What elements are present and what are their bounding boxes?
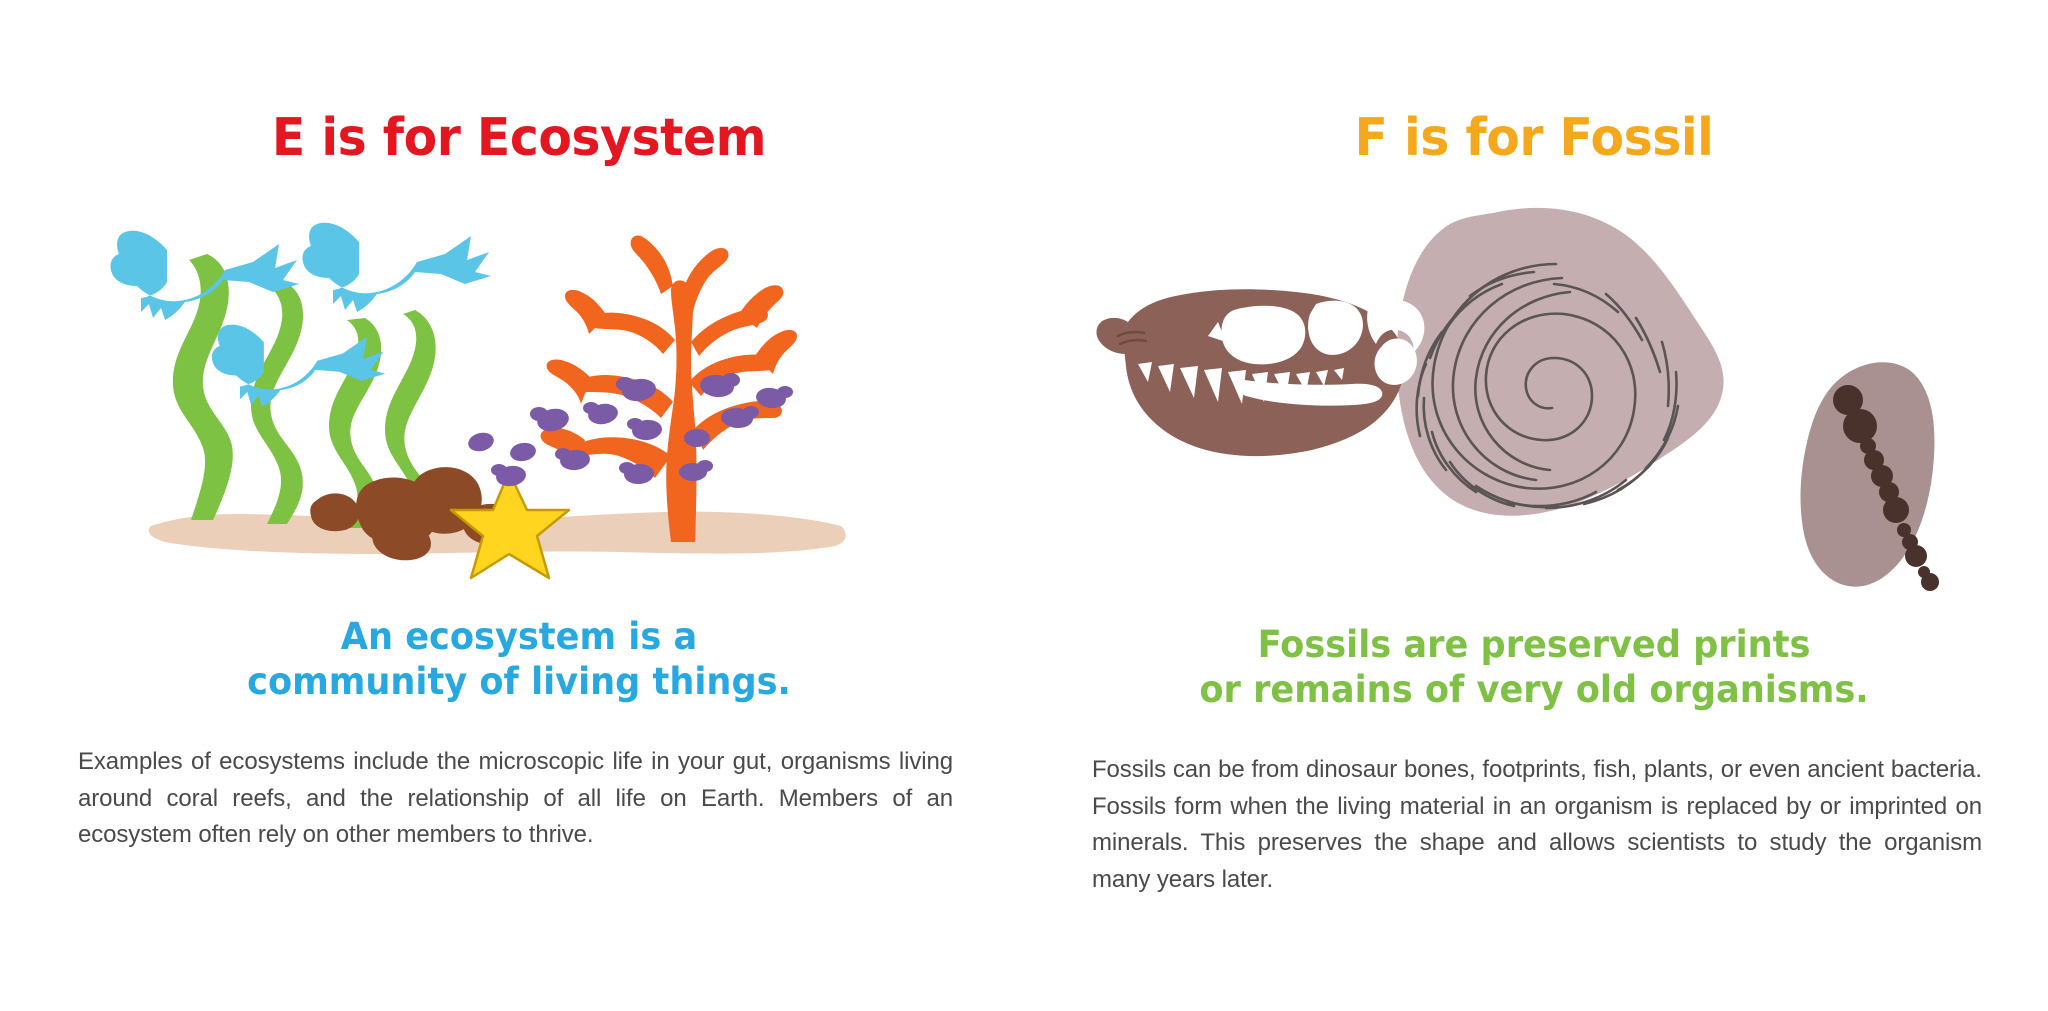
illustration-coral-reef-ecosystem <box>78 190 960 590</box>
illustration-fossil-specimens <box>1092 194 1976 604</box>
page-title-ecosystem: E is for Ecosystem <box>104 0 933 164</box>
page-spread: E is for Ecosystem <box>0 0 2048 1011</box>
fish-2 <box>302 223 491 312</box>
panel-fossil: F is for Fossil <box>1024 0 2048 1011</box>
dinosaur-skull-fossil <box>1097 289 1425 456</box>
panel-ecosystem: E is for Ecosystem <box>0 0 1024 1011</box>
page-title-fossil: F is for Fossil <box>1119 0 1950 164</box>
body-fossil-wrap: Fossils can be from dinosaur bones, foot… <box>1092 752 1976 898</box>
coral-shape <box>541 235 797 542</box>
body-text-ecosystem: Examples of ecosystems include the micro… <box>78 744 953 853</box>
coral-polyps-group <box>466 373 793 488</box>
body-text-fossil: Fossils can be from dinosaur bones, foot… <box>1092 752 1982 898</box>
caption-fossil: Fossils are preserved prints or remains … <box>1114 622 1954 712</box>
caption-fossil-wrap: Fossils are preserved prints or remains … <box>1092 622 1976 712</box>
body-ecosystem-wrap: Examples of ecosystems include the micro… <box>78 744 960 853</box>
caption-ecosystem: An ecosystem is a community of living th… <box>100 614 938 704</box>
ammonite-fossil <box>1397 208 1724 516</box>
vertebrae-fossil <box>1801 362 1939 591</box>
caption-ecosystem-wrap: An ecosystem is a community of living th… <box>78 614 960 704</box>
